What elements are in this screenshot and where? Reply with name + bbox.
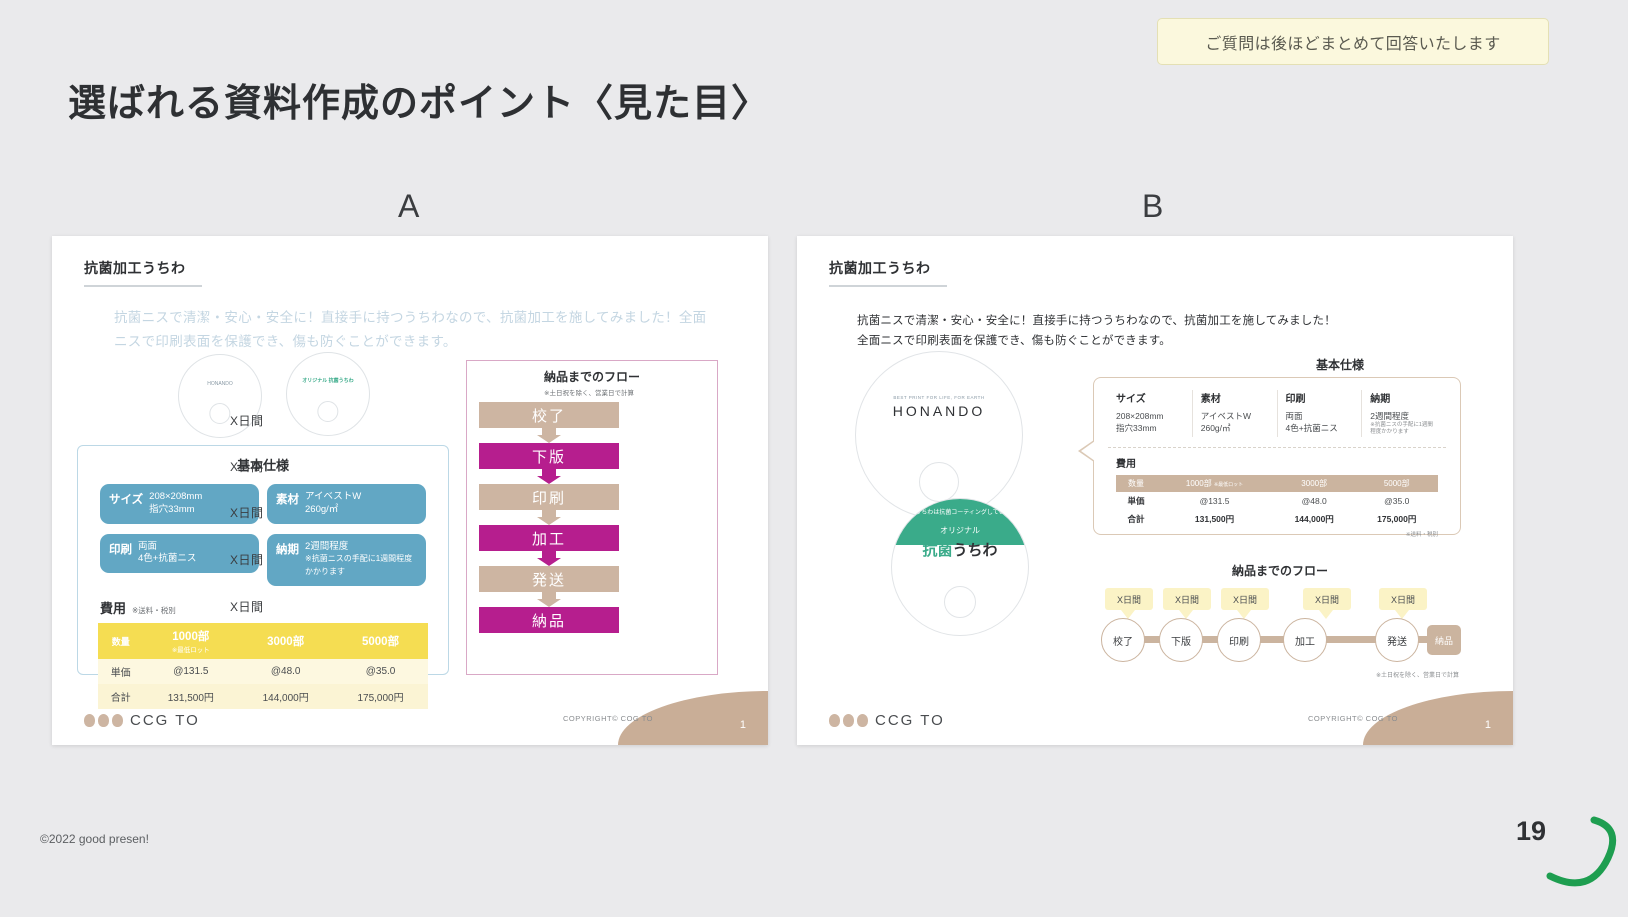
- row-label: 単価: [98, 659, 143, 684]
- spec-pill-material: 素材 アイベストW 260g/㎡: [267, 484, 426, 524]
- flow-step-4: 発送: [479, 566, 619, 592]
- spec-key: サイズ: [109, 491, 143, 507]
- spec-value-note: ※抗菌ニスの手配に1週間程度かかります: [1370, 422, 1438, 436]
- footer-logo: CCG TO: [829, 712, 945, 729]
- slide-a-footer: CCG TO COPYRIGHT© COG TO 1: [52, 683, 768, 745]
- flow-node-5: 納品: [1427, 625, 1461, 655]
- footer-copyright: COPYRIGHT© COG TO: [563, 714, 653, 723]
- flow-arrow-0: [479, 428, 619, 443]
- spec-value-line1: アイベストW: [1201, 411, 1251, 421]
- spec-key: 納期: [1370, 390, 1438, 405]
- spec-value: アイベストW 260g/㎡: [305, 491, 361, 517]
- slide-b-heading: 抗菌加工うちわ: [829, 258, 947, 278]
- spec-key: サイズ: [1116, 390, 1184, 405]
- col-1000-sub: ※最低ロット: [1214, 482, 1243, 488]
- slide-b-cost-table: 数量 1000部 ※最低ロット 3000部 5000部 単価 @131.5 @4…: [1116, 475, 1438, 528]
- cost-note: ※送料・税別: [132, 605, 176, 616]
- page-copyright: ©2022 good presen!: [40, 832, 149, 846]
- spec-col-material: 素材 アイベストW 260g/㎡: [1193, 390, 1278, 437]
- logo-text: CCG TO: [130, 712, 200, 729]
- flow-days-1: X日間: [230, 458, 264, 475]
- col-1000: 1000部 ※最低ロット: [1156, 475, 1273, 492]
- spec-value: 2週間程度 ※抗菌ニスの手配に1週間程度かかります: [1370, 410, 1438, 437]
- spec-value-line2: 260g/㎡: [1201, 423, 1231, 433]
- flow-arrow-2: [479, 510, 619, 525]
- row-label: 合計: [1116, 510, 1156, 528]
- flow-step-0: 校了: [479, 402, 619, 428]
- spec-value-line2: 4色+抗菌ニス: [138, 553, 196, 564]
- col-1000: 1000部 ※最低ロット: [143, 623, 238, 659]
- fan-label-original: オリジナル: [940, 525, 980, 536]
- spec-value-line1: 両面: [1286, 411, 1303, 421]
- spec-title: 基本仕様: [1235, 356, 1445, 373]
- fan-hub: [919, 462, 959, 502]
- slide-a-header: 抗菌加工うちわ: [84, 258, 202, 287]
- spec-key: 素材: [276, 491, 299, 507]
- cell: @35.0: [1355, 492, 1438, 510]
- flow-arrow-4: [479, 592, 619, 607]
- spec-value-line1: 2週間程度: [305, 541, 348, 552]
- spec-value-note: ※抗菌ニスの手配に1週間程度かかります: [305, 554, 412, 576]
- footer-pageno: 1: [740, 719, 746, 731]
- flow-arrow-1: [479, 469, 619, 484]
- cell: 175,000円: [1355, 510, 1438, 528]
- slide-b-spec-panel: サイズ 208×208mm 指穴33mm 素材 アイベストW 260g/㎡ 印刷: [1093, 377, 1461, 535]
- spec-value-line2: 指穴33mm: [149, 504, 194, 515]
- col-qty: 数量: [98, 623, 143, 659]
- table-row: 単価 @131.5 @48.0 @35.0: [1116, 492, 1438, 510]
- col-5000: 5000部: [1355, 475, 1438, 492]
- spec-value-line2: 4色+抗菌ニス: [1286, 423, 1338, 433]
- flow-days-0: X日間: [1105, 588, 1153, 610]
- slide-a-flow-panel: 納品までのフロー ※土日祝を除く、営業日で計算 校了 下版 印刷 加工 発送 納…: [466, 360, 718, 675]
- cell: @131.5: [1156, 492, 1273, 510]
- spec-pill-leadtime: 納期 2週間程度 ※抗菌ニスの手配に1週間程度かかります: [267, 534, 426, 586]
- spec-divider: [1108, 447, 1446, 448]
- col-3000: 3000部: [1273, 475, 1356, 492]
- fan2-hub: [317, 401, 338, 422]
- cost-note: ※送料・税別: [1094, 530, 1438, 538]
- slide-a-heading: 抗菌加工うちわ: [84, 258, 202, 278]
- flow-node-2: 印刷: [1217, 618, 1261, 662]
- slide-thumbnail-b[interactable]: 抗菌加工うちわ 抗菌ニスで清潔・安心・安全に！直接手に持つうちわなので、抗菌加工…: [797, 236, 1513, 745]
- heading-rule: [84, 285, 202, 287]
- spec-value-line1: 208×208mm: [1116, 411, 1164, 421]
- spec-value-line1: アイベストW: [305, 491, 361, 502]
- flow-step-2: 印刷: [479, 484, 619, 510]
- footer-pageno: 1: [1485, 719, 1491, 731]
- spec-value: 208×208mm 指穴33mm: [1116, 410, 1184, 435]
- flow-step-5: 納品: [479, 607, 619, 633]
- flow-steps: 校了 下版 印刷 加工 発送 納品: [467, 402, 717, 633]
- cost-label: 費用: [100, 598, 126, 617]
- flow-days-2: X日間: [1221, 588, 1269, 610]
- fan-image-antibacterial: このうちわは抗菌コーティングしています オリジナル 抗菌うちわ: [891, 498, 1029, 636]
- fan1-brand: HONANDO: [179, 381, 261, 387]
- heading-rule: [829, 285, 947, 287]
- spec-value: 208×208mm 指穴33mm: [149, 491, 202, 517]
- fan-brand: BEST PRINT FOR LIFE, FOR EARTH HONANDO: [893, 395, 986, 419]
- flow-days-2: X日間: [230, 504, 264, 521]
- flow-title: 納品までのフロー: [467, 368, 717, 385]
- logo-dots-icon: [84, 714, 123, 727]
- fan2-brand: オリジナル 抗菌うちわ: [287, 377, 369, 384]
- slide-a-body: 抗菌ニスで清潔・安心・安全に！直接手に持つうちわなので、抗菌加工を施してみました…: [114, 306, 714, 353]
- callout-tail-inner: [1081, 441, 1095, 461]
- option-label-b: B: [1142, 188, 1163, 225]
- spec-value-line1: 両面: [138, 541, 157, 552]
- flow-days-4: X日間: [230, 598, 264, 615]
- swoosh-icon: [1538, 806, 1620, 888]
- table-header-row: 数量 1000部 ※最低ロット 3000部 5000部: [1116, 475, 1438, 492]
- notice-text: ご質問は後ほどまとめて回答いたします: [1205, 30, 1500, 54]
- spec-col-print: 印刷 両面 4色+抗菌ニス: [1278, 390, 1363, 437]
- flow-days-1: X日間: [1163, 588, 1211, 610]
- flow-days-0: X日間: [230, 412, 264, 429]
- flow-days-3: X日間: [230, 551, 264, 568]
- col-1000-sub: ※最低ロット: [145, 644, 236, 654]
- table-header-row: 数量 1000部 ※最低ロット 3000部 5000部: [98, 623, 428, 659]
- cell: 144,000円: [1273, 510, 1356, 528]
- footer-copyright: COPYRIGHT© COG TO: [1308, 714, 1398, 723]
- spec-grid: サイズ 208×208mm 指穴33mm 素材 アイベストW 260g/㎡ 印刷: [1094, 378, 1460, 437]
- logo-dots-icon: [829, 714, 868, 727]
- flow-step-3: 加工: [479, 525, 619, 551]
- slide-canvas: ご質問は後ほどまとめて回答いたします 選ばれる資料作成のポイント〈見た目〉 A …: [0, 0, 1628, 917]
- fan-ribbon-text: このうちわは抗菌コーティングしています: [903, 507, 1016, 516]
- slide-b-body: 抗菌ニスで清潔・安心・安全に！直接手に持つうちわなので、抗菌加工を施してみました…: [857, 312, 1437, 351]
- page-title: 選ばれる資料作成のポイント〈見た目〉: [68, 72, 770, 127]
- flow-node-0: 校了: [1101, 618, 1145, 662]
- flow-title: 納品までのフロー: [1115, 562, 1445, 579]
- cell: @35.0: [333, 659, 428, 684]
- cell: @131.5: [143, 659, 238, 684]
- spec-value: アイベストW 260g/㎡: [1201, 410, 1269, 435]
- spec-value: 両面 4色+抗菌ニス: [1286, 410, 1354, 435]
- slide-b-footer: CCG TO COPYRIGHT© COG TO 1: [797, 683, 1513, 745]
- slide-b-flow: X日間 X日間 X日間 X日間 X日間 校了 下版 印刷 加工 発送 納品 ※土…: [1097, 588, 1467, 688]
- fan-brand-name: HONANDO: [893, 403, 986, 419]
- flow-days-3: X日間: [1303, 588, 1351, 610]
- table-row: 合計 131,500円 144,000円 175,000円: [1116, 510, 1438, 528]
- cost-label: 費用: [1116, 455, 1460, 470]
- spec-value: 2週間程度 ※抗菌ニスの手配に1週間程度かかります: [305, 541, 417, 579]
- slide-b-header: 抗菌加工うちわ: [829, 258, 947, 287]
- fan-label-main: 抗菌うちわ: [922, 539, 997, 560]
- slide-b-body-line2: 全面ニスで印刷表面を保護でき、傷も防ぐことができます。: [857, 332, 1437, 352]
- col-1000-label: 1000部: [172, 631, 209, 643]
- notice-banner: ご質問は後ほどまとめて回答いたします: [1157, 18, 1549, 65]
- col-1000-label: 1000部: [1186, 479, 1212, 488]
- option-label-a: A: [398, 188, 419, 225]
- fan-label-main-em: 抗菌: [922, 542, 952, 559]
- cell: @48.0: [238, 659, 333, 684]
- spec-value-line1: 208×208mm: [149, 491, 202, 502]
- table-row: 単価 @131.5 @48.0 @35.0: [98, 659, 428, 684]
- row-label: 単価: [1116, 492, 1156, 510]
- fan-brand-sup: BEST PRINT FOR LIFE, FOR EARTH: [893, 395, 986, 400]
- flow-node-3: 加工: [1283, 618, 1327, 662]
- flow-step-1: 下版: [479, 443, 619, 469]
- flow-arrow-3: [479, 551, 619, 566]
- spec-col-size: サイズ 208×208mm 指穴33mm: [1108, 390, 1193, 437]
- fan-label-main-rest: うちわ: [953, 542, 998, 559]
- spec-value-line2: 指穴33mm: [1116, 423, 1157, 433]
- fan-hub: [944, 586, 976, 618]
- flow-node-1: 下版: [1159, 618, 1203, 662]
- spec-value-line2: 260g/㎡: [305, 504, 338, 515]
- spec-col-leadtime: 納期 2週間程度 ※抗菌ニスの手配に1週間程度かかります: [1362, 390, 1446, 437]
- col-qty: 数量: [1116, 475, 1156, 492]
- flow-days-4: X日間: [1379, 588, 1427, 610]
- cell: 131,500円: [1156, 510, 1273, 528]
- cell: @48.0: [1273, 492, 1356, 510]
- flow-note: ※土日祝を除く、営業日で計算: [467, 387, 717, 397]
- flow-note: ※土日祝を除く、営業日で計算: [1097, 670, 1459, 679]
- footer-logo: CCG TO: [84, 712, 200, 729]
- spec-value-line1: 2週間程度: [1370, 411, 1409, 421]
- fan1-hub: [209, 403, 230, 424]
- fan-image-2: オリジナル 抗菌うちわ: [286, 352, 370, 436]
- slide-b-body-line1: 抗菌ニスで清潔・安心・安全に！直接手に持つうちわなので、抗菌加工を施してみました…: [857, 312, 1437, 332]
- spec-key: 印刷: [1286, 390, 1354, 405]
- spec-key: 印刷: [109, 541, 132, 557]
- fan-image-main: BEST PRINT FOR LIFE, FOR EARTH HONANDO: [855, 351, 1023, 519]
- spec-key: 素材: [1201, 390, 1269, 405]
- col-3000: 3000部: [238, 623, 333, 659]
- spec-value: 両面 4色+抗菌ニス: [138, 541, 196, 567]
- slide-thumbnail-a[interactable]: 抗菌加工うちわ 抗菌ニスで清潔・安心・安全に！直接手に持つうちわなので、抗菌加工…: [52, 236, 768, 745]
- col-5000: 5000部: [333, 623, 428, 659]
- spec-key: 納期: [276, 541, 299, 557]
- flow-node-4: 発送: [1375, 618, 1419, 662]
- logo-text: CCG TO: [875, 712, 945, 729]
